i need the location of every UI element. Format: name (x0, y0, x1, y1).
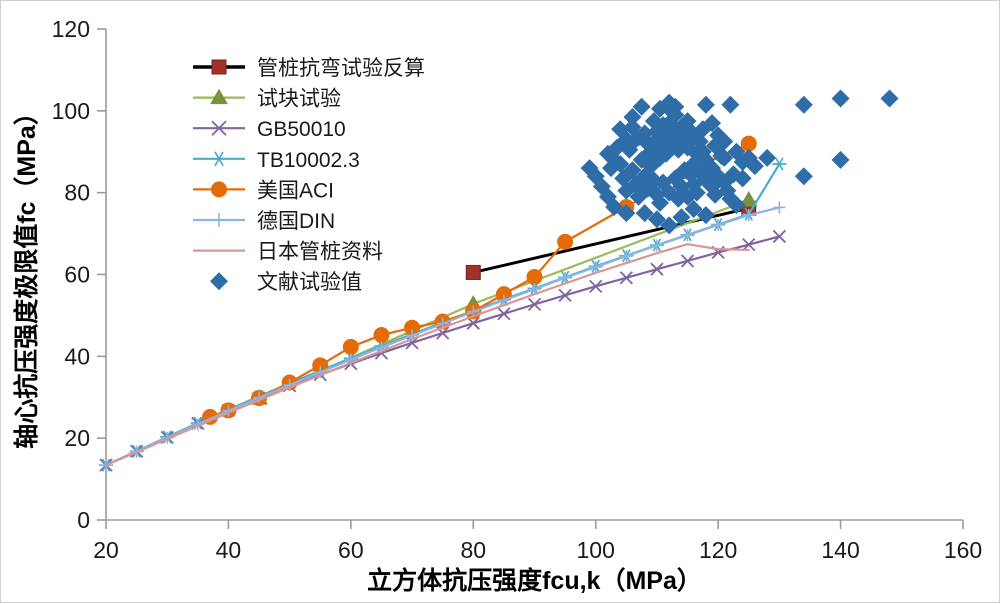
data-point-marker (712, 219, 724, 231)
series-line (106, 236, 779, 465)
data-point-marker (832, 90, 850, 108)
legend-item-shikuai[interactable]: 试块试验 (193, 88, 341, 111)
legend-item-tb100023[interactable]: TB10002.3 (193, 149, 360, 172)
legend-label: 美国ACI (257, 179, 334, 202)
data-point-marker (620, 272, 632, 284)
y-tick-label: 40 (64, 343, 90, 369)
chart-container: 20406080100120140160020406080100120 管桩抗弯… (0, 0, 1000, 603)
legend-item-gb50010[interactable]: GB50010 (193, 118, 346, 141)
data-point-marker (832, 151, 850, 169)
x-tick-label: 20 (93, 537, 119, 563)
y-axis-title: 轴心抗压强度极限值fc（MPa） (12, 100, 41, 449)
legend-label: 管桩抗弯试验反算 (257, 57, 425, 80)
data-point-marker (651, 239, 663, 251)
legend-item-aci[interactable]: 美国ACI (193, 179, 334, 202)
x-tick-label: 160 (944, 537, 982, 563)
x-tick-label: 100 (577, 537, 615, 563)
series-日本管桩资料 (106, 244, 749, 465)
legend-item-din[interactable]: 德国DIN (193, 210, 335, 233)
x-tick-label: 60 (338, 537, 364, 563)
x-tick-label: 120 (699, 537, 737, 563)
legend-label: 日本管桩资料 (257, 241, 383, 264)
data-point-marker (795, 167, 813, 185)
data-point-marker (498, 308, 510, 320)
data-point-marker (795, 96, 813, 114)
data-point-marker (773, 201, 785, 213)
scatter-series-literature (581, 90, 899, 235)
legend-label: 试块试验 (257, 88, 341, 111)
data-point-marker (212, 182, 227, 197)
data-point-marker (527, 269, 542, 284)
data-point-marker (697, 96, 715, 114)
legend-item-guanzhuang[interactable]: 管桩抗弯试验反算 (193, 57, 425, 80)
chart-legend: 管桩抗弯试验反算试块试验GB50010TB10002.3美国ACI德国DIN日本… (193, 57, 425, 294)
data-point-marker (772, 158, 786, 170)
data-point-marker (466, 265, 480, 279)
legend-label: GB50010 (257, 118, 346, 141)
data-point-marker (529, 298, 541, 310)
data-point-marker (741, 136, 756, 151)
data-point-marker (374, 328, 389, 343)
series-line (106, 244, 749, 465)
data-point-marker (881, 90, 899, 108)
data-point-marker (558, 234, 573, 249)
data-point-marker (590, 280, 602, 292)
y-tick-label: 120 (52, 16, 90, 42)
legend-item-literature[interactable]: 文献试验值 (210, 271, 362, 294)
data-point-marker (212, 213, 226, 227)
series-GB50010 (100, 230, 785, 471)
y-tick-label: 20 (64, 425, 90, 451)
data-point-marker (210, 272, 228, 290)
legend-item-japan[interactable]: 日本管桩资料 (193, 241, 383, 264)
x-tick-label: 40 (216, 537, 242, 563)
series-德国DIN (100, 201, 785, 471)
data-point-marker (721, 96, 739, 114)
y-tick-label: 80 (64, 180, 90, 206)
x-tick-label: 140 (821, 537, 859, 563)
x-tick-label: 80 (460, 537, 486, 563)
y-tick-label: 0 (77, 507, 90, 533)
data-point-marker (620, 250, 632, 262)
legend-label: 文献试验值 (257, 271, 362, 294)
legend-label: TB10002.3 (257, 149, 360, 172)
data-point-marker (211, 152, 227, 166)
chart-plot-area: 20406080100120140160020406080100120 管桩抗弯… (1, 1, 1000, 604)
data-point-marker (682, 229, 694, 241)
legend-label: 德国DIN (257, 210, 335, 233)
data-point-marker (343, 339, 358, 354)
data-point-marker (212, 60, 226, 74)
y-tick-label: 100 (52, 98, 90, 124)
data-point-marker (559, 289, 571, 301)
y-tick-label: 60 (64, 262, 90, 288)
x-axis-title: 立方体抗压强度fcu,k（MPa） (367, 566, 702, 595)
